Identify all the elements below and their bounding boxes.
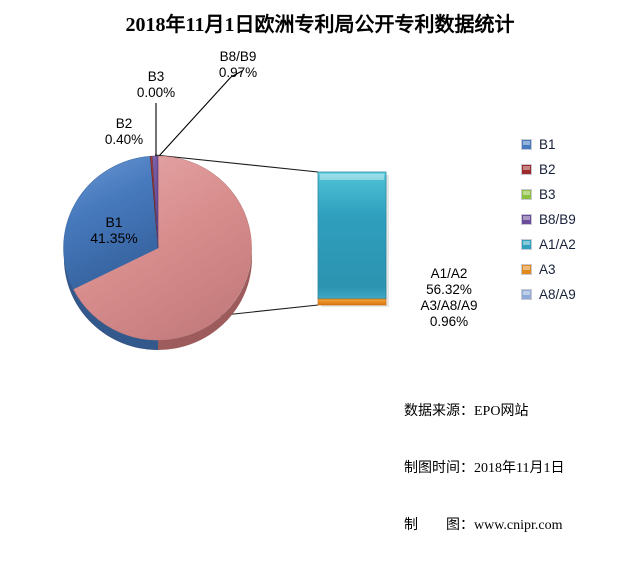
secondary-bar: [318, 172, 389, 307]
legend-swatch-b2-icon: [521, 164, 532, 175]
chart-legend: B1 B2 B3 B8/B9 A1/A2 A3 A8/A9: [521, 132, 633, 307]
legend-swatch-a3-icon: [521, 264, 532, 275]
bar-label-group: A1/A2 56.32% A3/A8/A9 0.96%: [396, 266, 502, 330]
bar-segment-a1a2: [318, 172, 386, 299]
pie-label-b1-percent: 41.35%: [78, 230, 150, 246]
bar-label-a3a8a9-name: A3/A8/A9: [396, 298, 502, 314]
bar-label-a3a8a9-percent: 0.96%: [396, 314, 502, 330]
legend-item-a3[interactable]: A3: [521, 257, 633, 282]
pie-label-b8b9: B8/B9 0.97%: [205, 49, 271, 81]
legend-label-a3: A3: [539, 262, 556, 277]
pie-label-b1-name: B1: [78, 214, 150, 230]
legend-label-a1a2: A1/A2: [539, 237, 576, 252]
legend-item-b8b9[interactable]: B8/B9: [521, 207, 633, 232]
legend-item-a1a2[interactable]: A1/A2: [521, 232, 633, 257]
bar-label-a1a2-name: A1/A2: [396, 266, 502, 282]
pie-label-b2: B2 0.40%: [96, 116, 152, 148]
chart-footer: 数据来源：EPO网站 制图时间：2018年11月1日 制 图：www.cnipr…: [404, 364, 564, 573]
pie-label-b3-name: B3: [128, 69, 184, 85]
legend-label-b3: B3: [539, 187, 556, 202]
bar-segment-a3a8a9: [318, 299, 386, 305]
pie-label-b3: B3 0.00%: [128, 69, 184, 101]
legend-item-b2[interactable]: B2: [521, 157, 633, 182]
legend-swatch-a8a9-icon: [521, 289, 532, 300]
bar-label-a1a2-percent: 56.32%: [396, 282, 502, 298]
pie-slices: [64, 156, 252, 340]
pie-label-b1: B1 41.35%: [78, 214, 150, 246]
legend-item-b1[interactable]: B1: [521, 132, 633, 157]
legend-swatch-b1-icon: [521, 139, 532, 150]
pie-label-b3-percent: 0.00%: [128, 85, 184, 101]
pie-label-b8b9-percent: 0.97%: [205, 65, 271, 81]
pie-label-b8b9-name: B8/B9: [205, 49, 271, 65]
legend-item-a8a9[interactable]: A8/A9: [521, 282, 633, 307]
legend-swatch-b3-icon: [521, 189, 532, 200]
chart-container: 2018年11月1日欧洲专利局公开专利数据统计: [0, 0, 640, 437]
legend-label-b2: B2: [539, 162, 556, 177]
legend-swatch-b8b9-icon: [521, 214, 532, 225]
footer-date: 制图时间：2018年11月1日: [404, 459, 564, 478]
legend-label-a8a9: A8/A9: [539, 287, 576, 302]
pie-label-b2-name: B2: [96, 116, 152, 132]
legend-swatch-a1a2-icon: [521, 239, 532, 250]
footer-author: 制 图：www.cnipr.com: [404, 516, 564, 535]
pie-label-b2-percent: 0.40%: [96, 132, 152, 148]
legend-label-b1: B1: [539, 137, 556, 152]
legend-label-b8b9: B8/B9: [539, 212, 576, 227]
legend-item-b3[interactable]: B3: [521, 182, 633, 207]
footer-source: 数据来源：EPO网站: [404, 402, 564, 421]
